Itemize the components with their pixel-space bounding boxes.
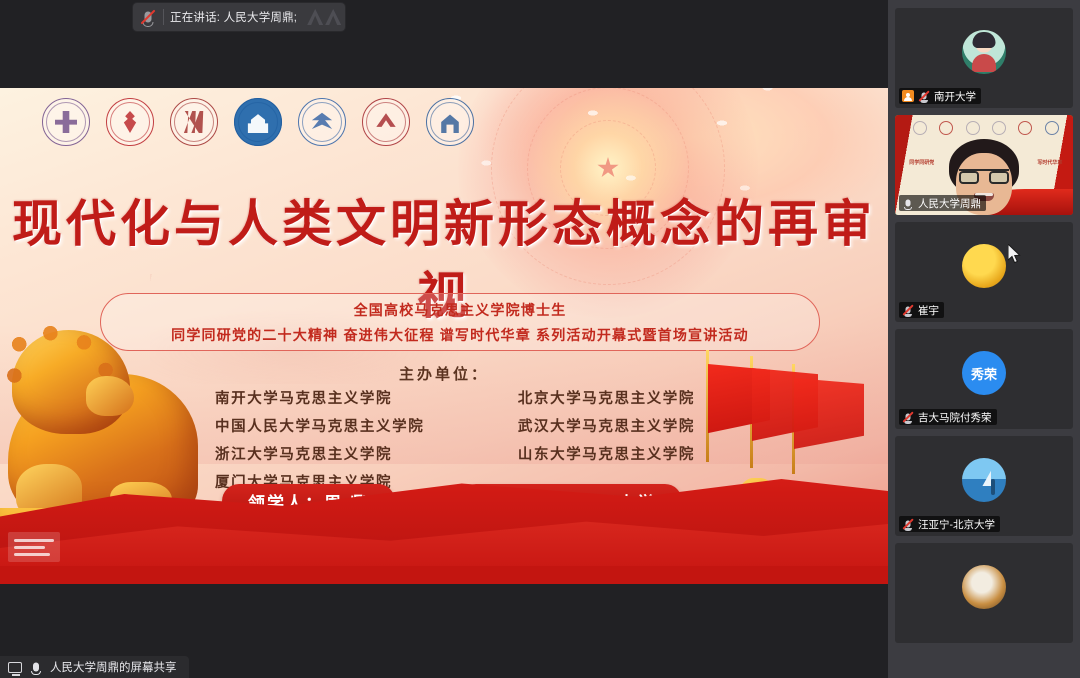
peking-university-seal — [106, 98, 154, 146]
subtitle-line-2: 同学同研党的二十大精神 奋进伟大征程 谱写时代华章 系列活动开幕式暨首场宣讲活动 — [171, 325, 749, 345]
organizer-columns: 南开大学马克思主义学院 中国人民大学马克思主义学院 浙江大学马克思主义学院 厦门… — [215, 387, 695, 492]
participant-tile-partial[interactable] — [895, 543, 1073, 643]
screen-share-icon — [8, 662, 22, 673]
participant-name: 南开大学 — [934, 89, 976, 104]
university-logo-row — [42, 98, 474, 146]
mic-icon — [29, 659, 43, 675]
wuhan-university-seal — [234, 98, 282, 146]
host-badge-icon — [902, 90, 914, 102]
slide-bottom-bar — [0, 566, 888, 584]
participant-namebar: 汪亚宁-北京大学 — [899, 516, 1000, 532]
speaking-label: 正在讲话: 人民大学周鼎; — [170, 9, 297, 25]
participant-name: 人民大学周鼎 — [918, 196, 981, 211]
organizer-column-left: 南开大学马克思主义学院 中国人民大学马克思主义学院 浙江大学马克思主义学院 厦门… — [215, 387, 424, 492]
avatar — [962, 565, 1006, 609]
presentation-slide: 现代化与人类文明新形态概念的再审视 全国高校马克思主义学院博士生 同学同研党的二… — [0, 88, 888, 584]
shandong-university-seal — [426, 98, 474, 146]
glasses-icon — [959, 169, 1009, 182]
organizer-item: 北京大学马克思主义学院 — [518, 387, 695, 408]
xiamen-university-seal — [362, 98, 410, 146]
participant-tile-active-speaker[interactable]: 同学同研党写时代华章 活动 人民大学周鼎 — [895, 115, 1073, 215]
mic-muted-icon — [902, 517, 914, 531]
organizer-item: 南开大学马克思主义学院 — [215, 387, 424, 408]
divider — [163, 9, 164, 25]
participant-tile-nankai[interactable]: 南开大学 — [895, 8, 1073, 108]
organizer-item: 浙江大学马克思主义学院 — [215, 443, 424, 464]
participant-tile-wangyaning[interactable]: 汪亚宁-北京大学 — [895, 436, 1073, 536]
avatar — [962, 30, 1006, 74]
renmin-university-seal — [170, 98, 218, 146]
participant-name: 吉大马院付秀荣 — [918, 410, 992, 425]
subtitle-line-1: 全国高校马克思主义学院博士生 — [354, 300, 567, 320]
participant-namebar: 人民大学周鼎 — [899, 195, 986, 211]
participant-namebar: 吉大马院付秀荣 — [899, 409, 997, 425]
participant-namebar: 南开大学 — [899, 88, 981, 104]
avatar: 秀荣 — [962, 351, 1006, 395]
screen-share-indicator: 人民大学周鼎的屏幕共享 — [0, 656, 189, 678]
mic-muted-icon — [902, 410, 914, 424]
audio-wave-icon — [307, 9, 341, 25]
participant-tile-fuxiurong[interactable]: 秀荣 吉大马院付秀荣 — [895, 329, 1073, 429]
participant-name: 崔宇 — [918, 303, 939, 318]
zhejiang-university-seal — [298, 98, 346, 146]
active-speaker-banner: 正在讲话: 人民大学周鼎; — [133, 3, 345, 31]
participant-sidebar[interactable]: 南开大学 同学同研党写时代华章 活动 人民大学周鼎 — [888, 0, 1080, 678]
mic-icon — [902, 196, 914, 210]
organizer-item: 山东大学马克思主义学院 — [518, 443, 695, 464]
mic-muted-icon — [918, 89, 930, 103]
mic-muted-icon — [139, 8, 157, 26]
nankai-university-seal — [42, 98, 90, 146]
avatar — [962, 458, 1006, 502]
participant-namebar: 崔宇 — [899, 302, 944, 318]
organizer-item: 中国人民大学马克思主义学院 — [215, 415, 424, 436]
slide-corner-note-icon — [8, 532, 60, 562]
screen-share-label: 人民大学周鼎的屏幕共享 — [50, 659, 177, 675]
organizer-column-right: 北京大学马克思主义学院 武汉大学马克思主义学院 山东大学马克思主义学院 — [518, 387, 695, 492]
participant-tile-cuiyu[interactable]: 崔宇 — [895, 222, 1073, 322]
mic-muted-icon — [902, 303, 914, 317]
avatar — [962, 244, 1006, 288]
organizer-item: 武汉大学马克思主义学院 — [518, 415, 695, 436]
participant-name: 汪亚宁-北京大学 — [918, 517, 995, 532]
shared-screen-stage: 正在讲话: 人民大学周鼎; 现代化与人类文明新形态概念的再审视 全国高校马克思主… — [0, 0, 888, 678]
